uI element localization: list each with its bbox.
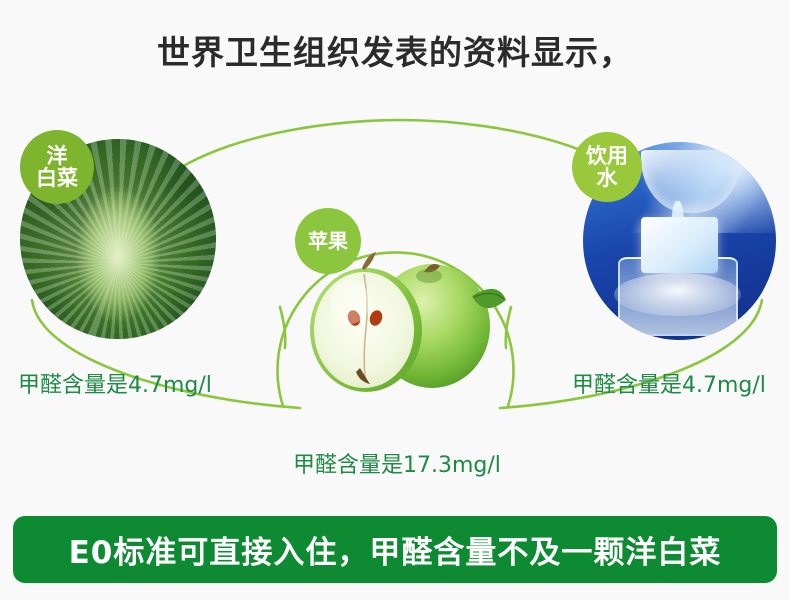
water-foam	[614, 273, 741, 317]
badge-cabbage-line1: 洋	[36, 145, 78, 167]
caption-apple: 甲醛含量是17.3mg/l	[293, 447, 501, 479]
badge-water-line1: 饮用	[586, 145, 628, 167]
arc-apple-left-tick	[280, 307, 285, 348]
badge-apple-line1: 苹果	[308, 231, 348, 252]
badge-apple: 苹果	[295, 208, 361, 274]
badge-cabbage: 洋 白菜	[20, 130, 94, 204]
caption-cabbage: 甲醛含量是4.7mg/l	[18, 367, 212, 399]
badge-water-line2: 水	[586, 167, 628, 189]
page-title: 世界卫生组织发表的资料显示，	[0, 26, 790, 74]
badge-water: 饮用 水	[572, 132, 642, 202]
bottom-banner: E0标准可直接入住，甲醛含量不及一颗洋白菜	[13, 516, 777, 583]
caption-water: 甲醛含量是4.7mg/l	[572, 367, 766, 399]
banner-text: E0标准可直接入住，甲醛含量不及一颗洋白菜	[69, 527, 722, 572]
ice-cube	[641, 217, 718, 272]
badge-cabbage-line2: 白菜	[36, 167, 78, 189]
infographic-root: 世界卫生组织发表的资料显示，	[0, 0, 790, 600]
